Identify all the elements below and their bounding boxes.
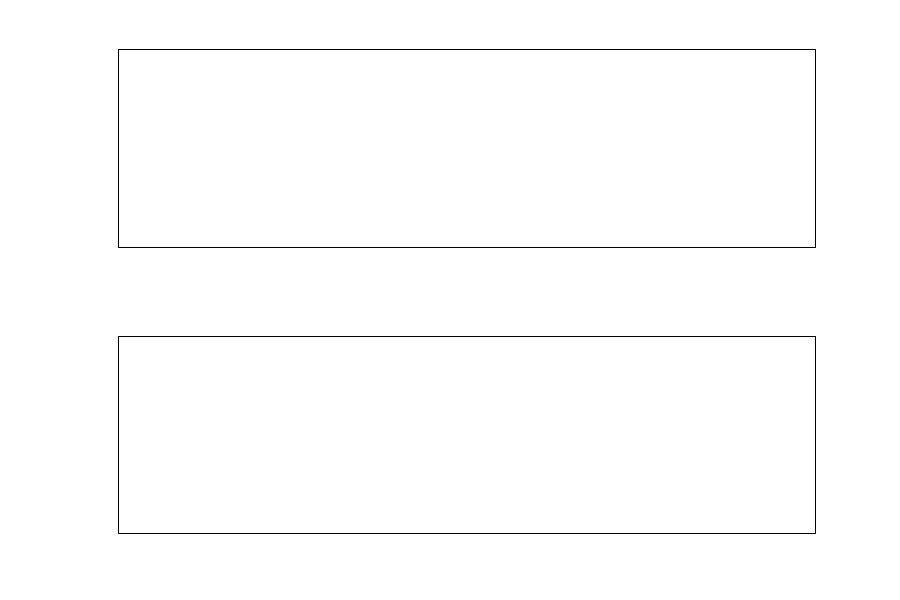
bottom-panel-curve-canvas bbox=[119, 337, 815, 533]
tidal-forecast-figure bbox=[0, 0, 900, 600]
top-panel-curve-canvas bbox=[119, 50, 815, 247]
top-panel-plot-area[interactable] bbox=[118, 49, 816, 248]
bottom-panel-plot-area[interactable] bbox=[118, 336, 816, 534]
